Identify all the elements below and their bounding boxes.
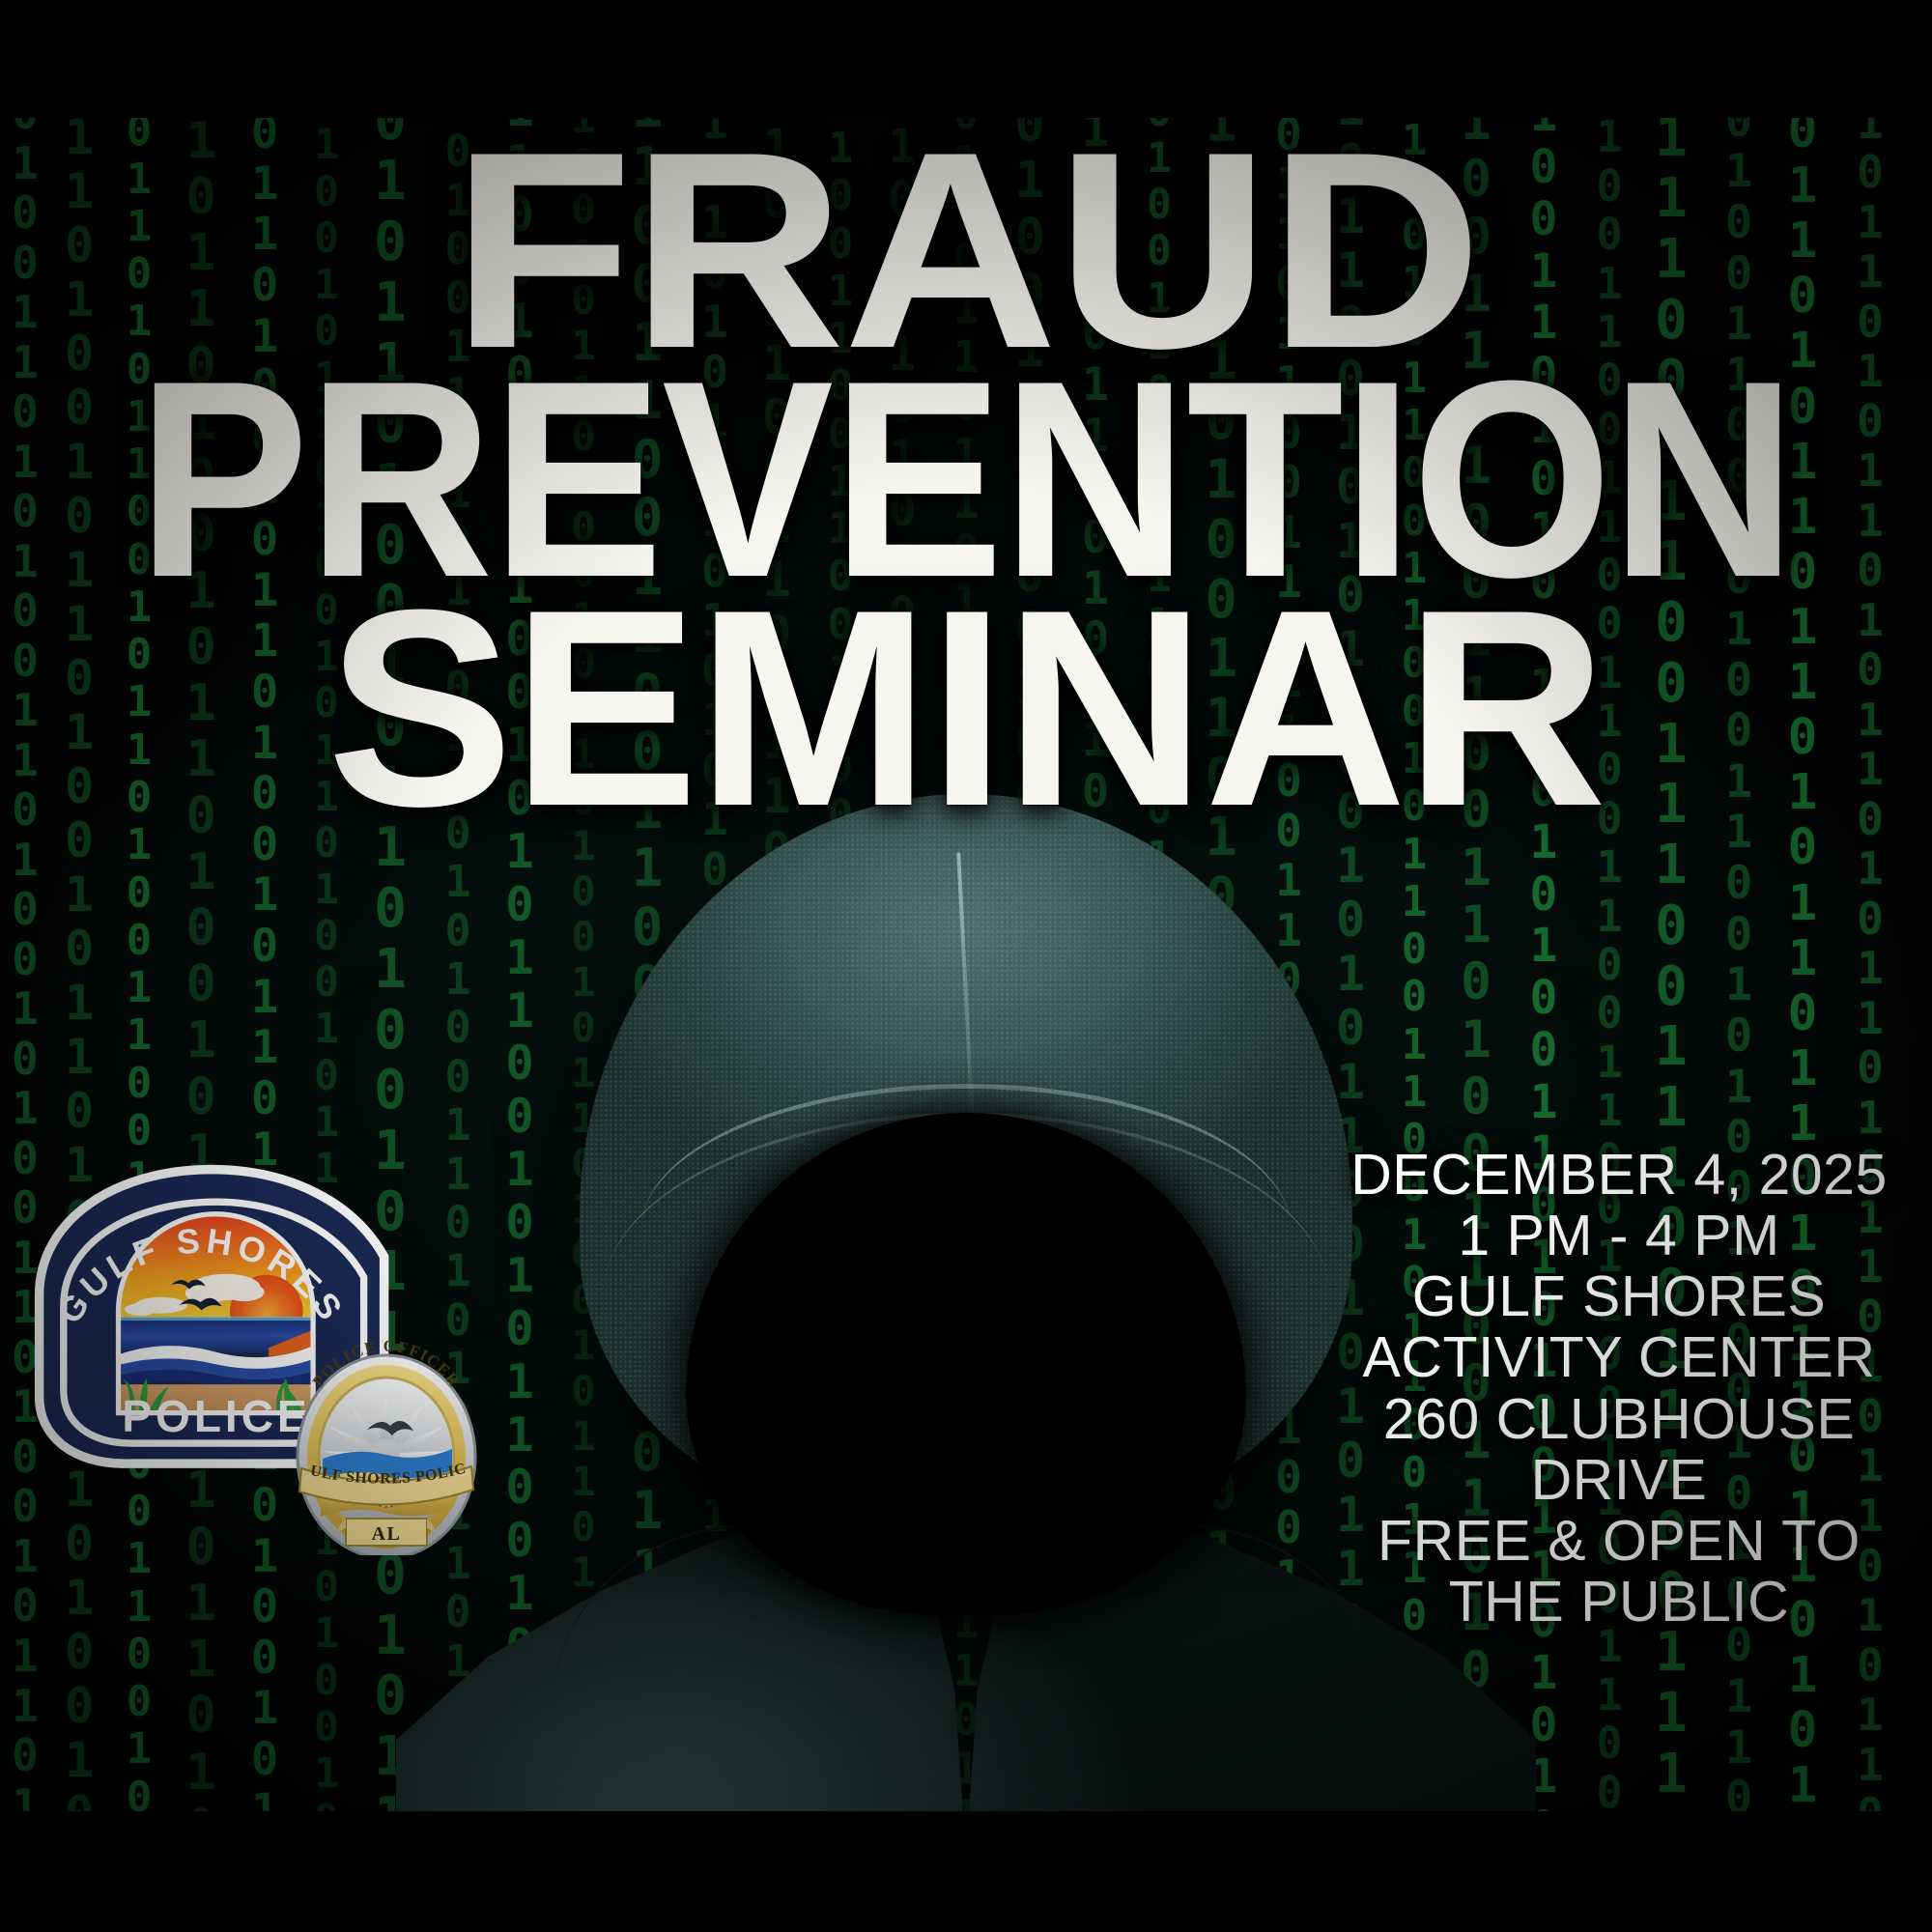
officer-badge-ribbon-text: AL xyxy=(372,1523,402,1545)
badges-svg: GULF SHORES POLICE xyxy=(27,1150,529,1555)
detail-admission-2: THE PUBLIC xyxy=(1329,1572,1909,1633)
letterbox-bar-top xyxy=(0,0,1932,118)
detail-venue-line-1: GULF SHORES xyxy=(1329,1266,1909,1327)
detail-time: 1 PM - 4 PM xyxy=(1329,1206,1909,1266)
poster-canvas: 0 1 0 0 1 1 0 1 0 1 0 0 1 1 0 1 0 0 1 0 … xyxy=(0,0,1932,1932)
police-badges-group: GULF SHORES POLICE xyxy=(27,1150,529,1555)
letterbox-bar-bottom xyxy=(0,1811,1932,1932)
hood-crease xyxy=(956,852,976,1142)
detail-address-line-2: DRIVE xyxy=(1329,1450,1909,1511)
detail-date: DECEMBER 4, 2025 xyxy=(1329,1145,1909,1206)
title-line-seminar: SEMINAR xyxy=(0,585,1932,832)
patch-police-label: POLICE xyxy=(122,1391,310,1441)
detail-venue-line-2: ACTIVITY CENTER xyxy=(1329,1327,1909,1388)
event-details-block: DECEMBER 4, 2025 1 PM - 4 PM GULF SHORES… xyxy=(1329,1145,1909,1633)
poster-title: FRAUD PREVENTION SEMINAR xyxy=(0,128,1932,833)
detail-address-line-1: 260 CLUBHOUSE xyxy=(1329,1389,1909,1450)
detail-admission-1: FREE & OPEN TO xyxy=(1329,1511,1909,1572)
